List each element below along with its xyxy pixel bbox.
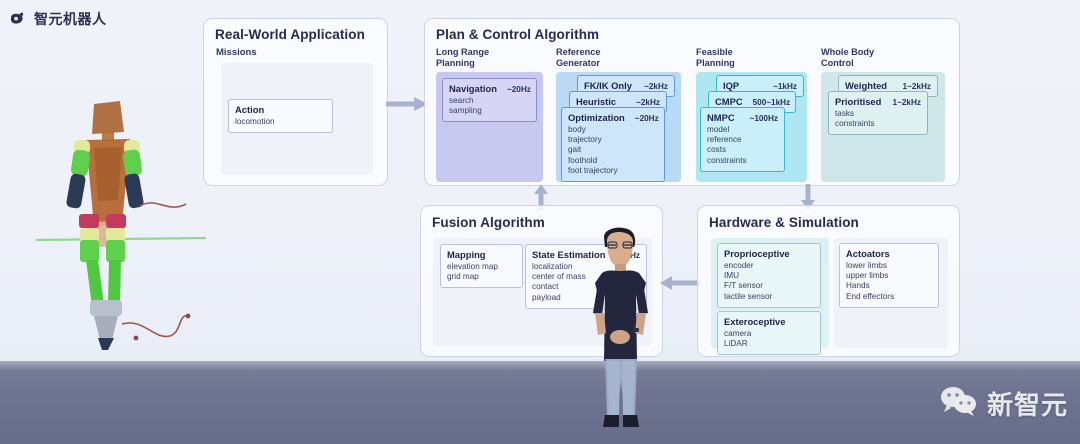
node-actuators[interactable]: Actoators lower limbs upper limbs Hands … bbox=[839, 243, 939, 308]
channel-watermark: 新智元 bbox=[939, 385, 1068, 422]
node-proprioceptive-name: Proprioceptive bbox=[724, 248, 790, 259]
sub-label-feasible-planning: Feasible Planning bbox=[696, 47, 735, 68]
node-nmpc-item: reference bbox=[707, 135, 778, 145]
node-actuators-item: End effectors bbox=[846, 292, 932, 302]
presenter-person bbox=[578, 221, 664, 436]
node-fk-ik-only-freq: ~2kHz bbox=[634, 82, 668, 91]
node-optimization-item: gait bbox=[568, 145, 658, 155]
node-mapping-head: Mapping bbox=[447, 249, 516, 260]
sub-label-long-range-planning: Long Range Planning bbox=[436, 47, 489, 68]
node-exteroceptive-items: camera LiDAR bbox=[724, 329, 814, 349]
node-iqp-freq: ~1kHz bbox=[763, 82, 797, 91]
node-navigation-item: search bbox=[449, 96, 530, 106]
sub-label-line1: Whole Body bbox=[821, 47, 874, 58]
node-exteroceptive-item: LiDAR bbox=[724, 339, 814, 349]
node-optimization[interactable]: Optimization ~20Hz body trajectory gait … bbox=[561, 107, 665, 182]
node-proprioceptive[interactable]: Proprioceptive encoder IMU F/T sensor ta… bbox=[717, 243, 821, 308]
node-exteroceptive-item: camera bbox=[724, 329, 814, 339]
node-nmpc-item: model bbox=[707, 125, 778, 135]
node-nmpc-freq: ~100Hz bbox=[740, 114, 778, 123]
node-navigation[interactable]: Navigation ~20Hz search sampling bbox=[442, 78, 537, 122]
node-optimization-freq: ~20Hz bbox=[625, 114, 659, 123]
node-proprioceptive-item: IMU bbox=[724, 271, 814, 281]
presentation-screenshot: 智元机器人 bbox=[0, 0, 1080, 444]
node-optimization-item: foot trajectory bbox=[568, 166, 658, 176]
agibot-mark-icon bbox=[8, 10, 27, 29]
panel-real-world-application[interactable]: Real-World Application Missions Action l… bbox=[203, 18, 388, 186]
node-nmpc-item: constraints bbox=[707, 156, 778, 166]
node-optimization-item: body bbox=[568, 125, 658, 135]
sub-label-missions: Missions bbox=[216, 48, 257, 59]
node-action-name: Action bbox=[235, 104, 264, 115]
sub-label-line2: Control bbox=[821, 58, 874, 69]
panel-title-fusion: Fusion Algorithm bbox=[432, 215, 545, 230]
node-proprioceptive-head: Proprioceptive bbox=[724, 248, 814, 259]
node-navigation-item: sampling bbox=[449, 106, 530, 116]
node-heuristic-head: Heuristic ~2kHz bbox=[576, 96, 660, 107]
panel-title-real-world: Real-World Application bbox=[215, 27, 365, 42]
node-mapping[interactable]: Mapping elevation map grid map bbox=[440, 244, 523, 288]
sub-label-reference-generator: Reference Generator bbox=[556, 47, 600, 68]
node-heuristic-name: Heuristic bbox=[576, 96, 616, 107]
sub-label-line2: Planning bbox=[436, 58, 489, 69]
watermark-text: 新智元 bbox=[987, 385, 1068, 422]
node-proprioceptive-item: F/T sensor bbox=[724, 281, 814, 291]
sub-label-line1: Reference bbox=[556, 47, 600, 58]
node-action-head: Action bbox=[235, 104, 326, 115]
sub-label-line1: Feasible bbox=[696, 47, 735, 58]
node-fk-ik-only-head: FK/IK Only ~2kHz bbox=[584, 80, 668, 91]
node-prioritised-item: constraints bbox=[835, 119, 921, 129]
humanoid-robot-illustration bbox=[36, 88, 206, 353]
node-fk-ik-only-name: FK/IK Only bbox=[584, 80, 632, 91]
sub-label-line2: Generator bbox=[556, 58, 600, 69]
node-navigation-head: Navigation ~20Hz bbox=[449, 83, 530, 94]
node-action-items: locomotion bbox=[235, 117, 326, 127]
sub-label-whole-body-control: Whole Body Control bbox=[821, 47, 874, 68]
node-nmpc-name: NMPC bbox=[707, 112, 735, 123]
node-actuators-item: Hands bbox=[846, 281, 932, 291]
node-mapping-item: elevation map bbox=[447, 262, 516, 272]
sub-label-line1: Long Range bbox=[436, 47, 489, 58]
node-weighted-freq: 1~2kHz bbox=[893, 82, 931, 91]
node-proprioceptive-item: tactile sensor bbox=[724, 292, 814, 302]
stage-floor bbox=[0, 361, 1080, 444]
sub-label-line2: Planning bbox=[696, 58, 735, 69]
node-actuators-head: Actoators bbox=[846, 248, 932, 259]
node-nmpc-head: NMPC ~100Hz bbox=[707, 112, 778, 123]
node-nmpc[interactable]: NMPC ~100Hz model reference costs constr… bbox=[700, 107, 785, 172]
wechat-icon bbox=[939, 385, 979, 422]
node-actuators-item: upper limbs bbox=[846, 271, 932, 281]
node-cmpc-freq: 500~1kHz bbox=[743, 98, 791, 107]
node-weighted-name: Weighted bbox=[845, 80, 887, 91]
panel-title-plan-control: Plan & Control Algorithm bbox=[436, 27, 599, 42]
node-navigation-freq: ~20Hz bbox=[497, 85, 531, 94]
node-prioritised-name: Prioritised bbox=[835, 96, 881, 107]
node-iqp-name: IQP bbox=[723, 80, 739, 91]
node-weighted-head: Weighted 1~2kHz bbox=[845, 80, 931, 91]
node-cmpc-name: CMPC bbox=[715, 96, 743, 107]
node-prioritised-item: tasks bbox=[835, 109, 921, 119]
node-prioritised-items: tasks constraints bbox=[835, 109, 921, 129]
node-exteroceptive[interactable]: Exteroceptive camera LiDAR bbox=[717, 311, 821, 355]
node-mapping-items: elevation map grid map bbox=[447, 262, 516, 282]
node-heuristic-freq: ~2kHz bbox=[626, 98, 660, 107]
node-actuators-item: lower limbs bbox=[846, 261, 932, 271]
node-optimization-item: trajectory bbox=[568, 135, 658, 145]
brand-logo-text: 智元机器人 bbox=[34, 9, 107, 29]
node-mapping-item: grid map bbox=[447, 272, 516, 282]
node-iqp-head: IQP ~1kHz bbox=[723, 80, 797, 91]
brand-logo: 智元机器人 bbox=[8, 9, 107, 29]
node-exteroceptive-head: Exteroceptive bbox=[724, 316, 814, 327]
node-prioritised-head: Prioritised 1~2kHz bbox=[835, 96, 921, 107]
arrow-hardware-to-fusion bbox=[660, 275, 700, 296]
panel-hardware-simulation[interactable]: Hardware & Simulation Proprioceptive enc… bbox=[697, 205, 960, 357]
node-nmpc-items: model reference costs constraints bbox=[707, 125, 778, 166]
node-action-item: locomotion bbox=[235, 117, 326, 127]
node-proprioceptive-item: encoder bbox=[724, 261, 814, 271]
node-actuators-name: Actoators bbox=[846, 248, 890, 259]
node-cmpc-head: CMPC 500~1kHz bbox=[715, 96, 789, 107]
arrow-realworld-to-plan bbox=[386, 96, 428, 117]
stage-floor-edge bbox=[0, 361, 1080, 371]
node-actuators-items: lower limbs upper limbs Hands End effect… bbox=[846, 261, 932, 302]
node-prioritised[interactable]: Prioritised 1~2kHz tasks constraints bbox=[828, 91, 928, 135]
node-prioritised-freq: 1~2kHz bbox=[883, 98, 921, 107]
panel-plan-control-algorithm[interactable]: Plan & Control Algorithm Long Range Plan… bbox=[424, 18, 960, 186]
node-proprioceptive-items: encoder IMU F/T sensor tactile sensor bbox=[724, 261, 814, 302]
node-mapping-name: Mapping bbox=[447, 249, 486, 260]
node-navigation-name: Navigation bbox=[449, 83, 497, 94]
node-navigation-items: search sampling bbox=[449, 96, 530, 116]
node-optimization-items: body trajectory gait foothold foot traje… bbox=[568, 125, 658, 176]
node-exteroceptive-name: Exteroceptive bbox=[724, 316, 786, 327]
node-nmpc-item: costs bbox=[707, 145, 778, 155]
node-optimization-name: Optimization bbox=[568, 112, 625, 123]
node-optimization-item: foothold bbox=[568, 156, 658, 166]
node-optimization-head: Optimization ~20Hz bbox=[568, 112, 658, 123]
node-action[interactable]: Action locomotion bbox=[228, 99, 333, 133]
panel-title-hardware: Hardware & Simulation bbox=[709, 215, 859, 230]
